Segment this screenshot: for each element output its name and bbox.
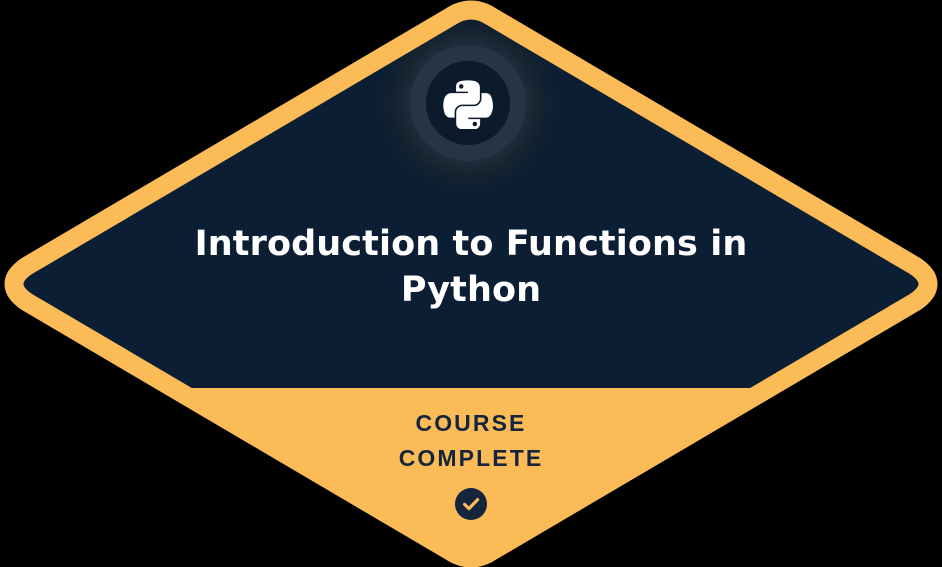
completion-label-line2: COMPLETE [221,441,721,476]
completion-label-line1: COURSE [221,406,721,441]
badge-canvas: Introduction to Functions in Python COUR… [0,0,942,567]
python-emblem [351,0,585,220]
check-circle-icon [455,488,487,520]
course-title: Introduction to Functions in Python [121,221,821,313]
python-logo-icon [442,77,494,129]
completion-footer: COURSE COMPLETE [221,406,721,520]
